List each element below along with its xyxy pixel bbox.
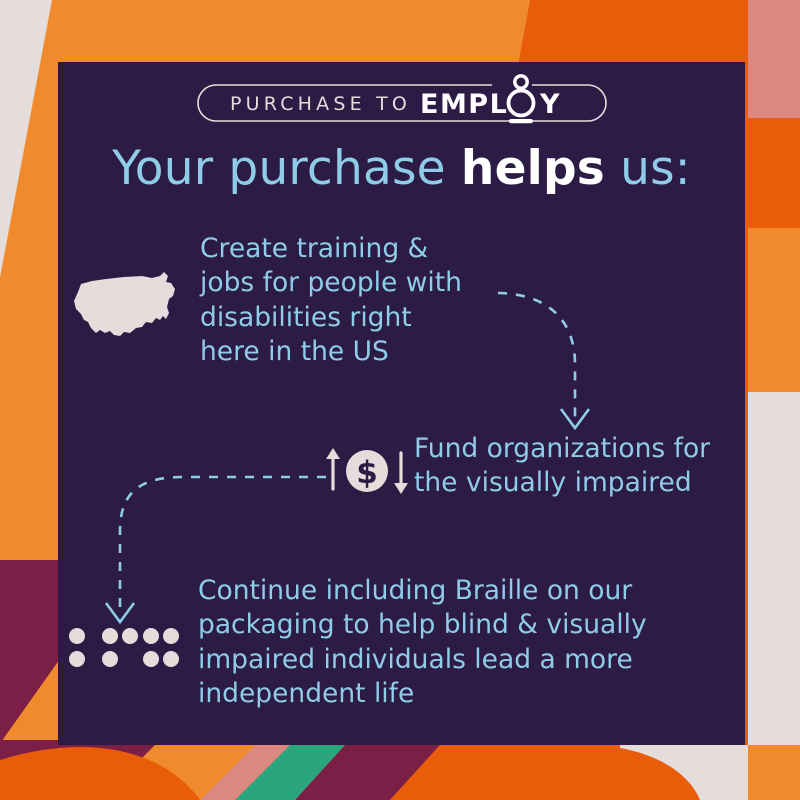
dollar-sign-glyph: $	[356, 455, 378, 491]
benefit-2-text: Fund organizations for the visually impa…	[414, 432, 710, 501]
arrow-up-icon	[326, 448, 340, 489]
us-map-icon	[72, 270, 182, 346]
braille-dots-icon	[68, 626, 180, 674]
dollar-coin-icon: $	[324, 440, 410, 506]
arrow-down-icon	[394, 453, 408, 494]
stripe-orange-right-3	[748, 228, 800, 392]
stripe-dark-orange-right-4	[748, 118, 800, 228]
promo-card: PURCHASE TO EMPL Y Your purchase helps u…	[58, 62, 745, 745]
benefit-3-text: Continue including Braille on our packag…	[198, 574, 647, 712]
stripe-group-right	[748, 0, 800, 800]
stripe-cream-right-2	[748, 392, 800, 745]
benefit-1-text: Create training & jobs for people with d…	[200, 232, 462, 370]
stripe-salmon-right-top	[748, 0, 800, 118]
arrow-map-to-coin	[498, 293, 589, 428]
